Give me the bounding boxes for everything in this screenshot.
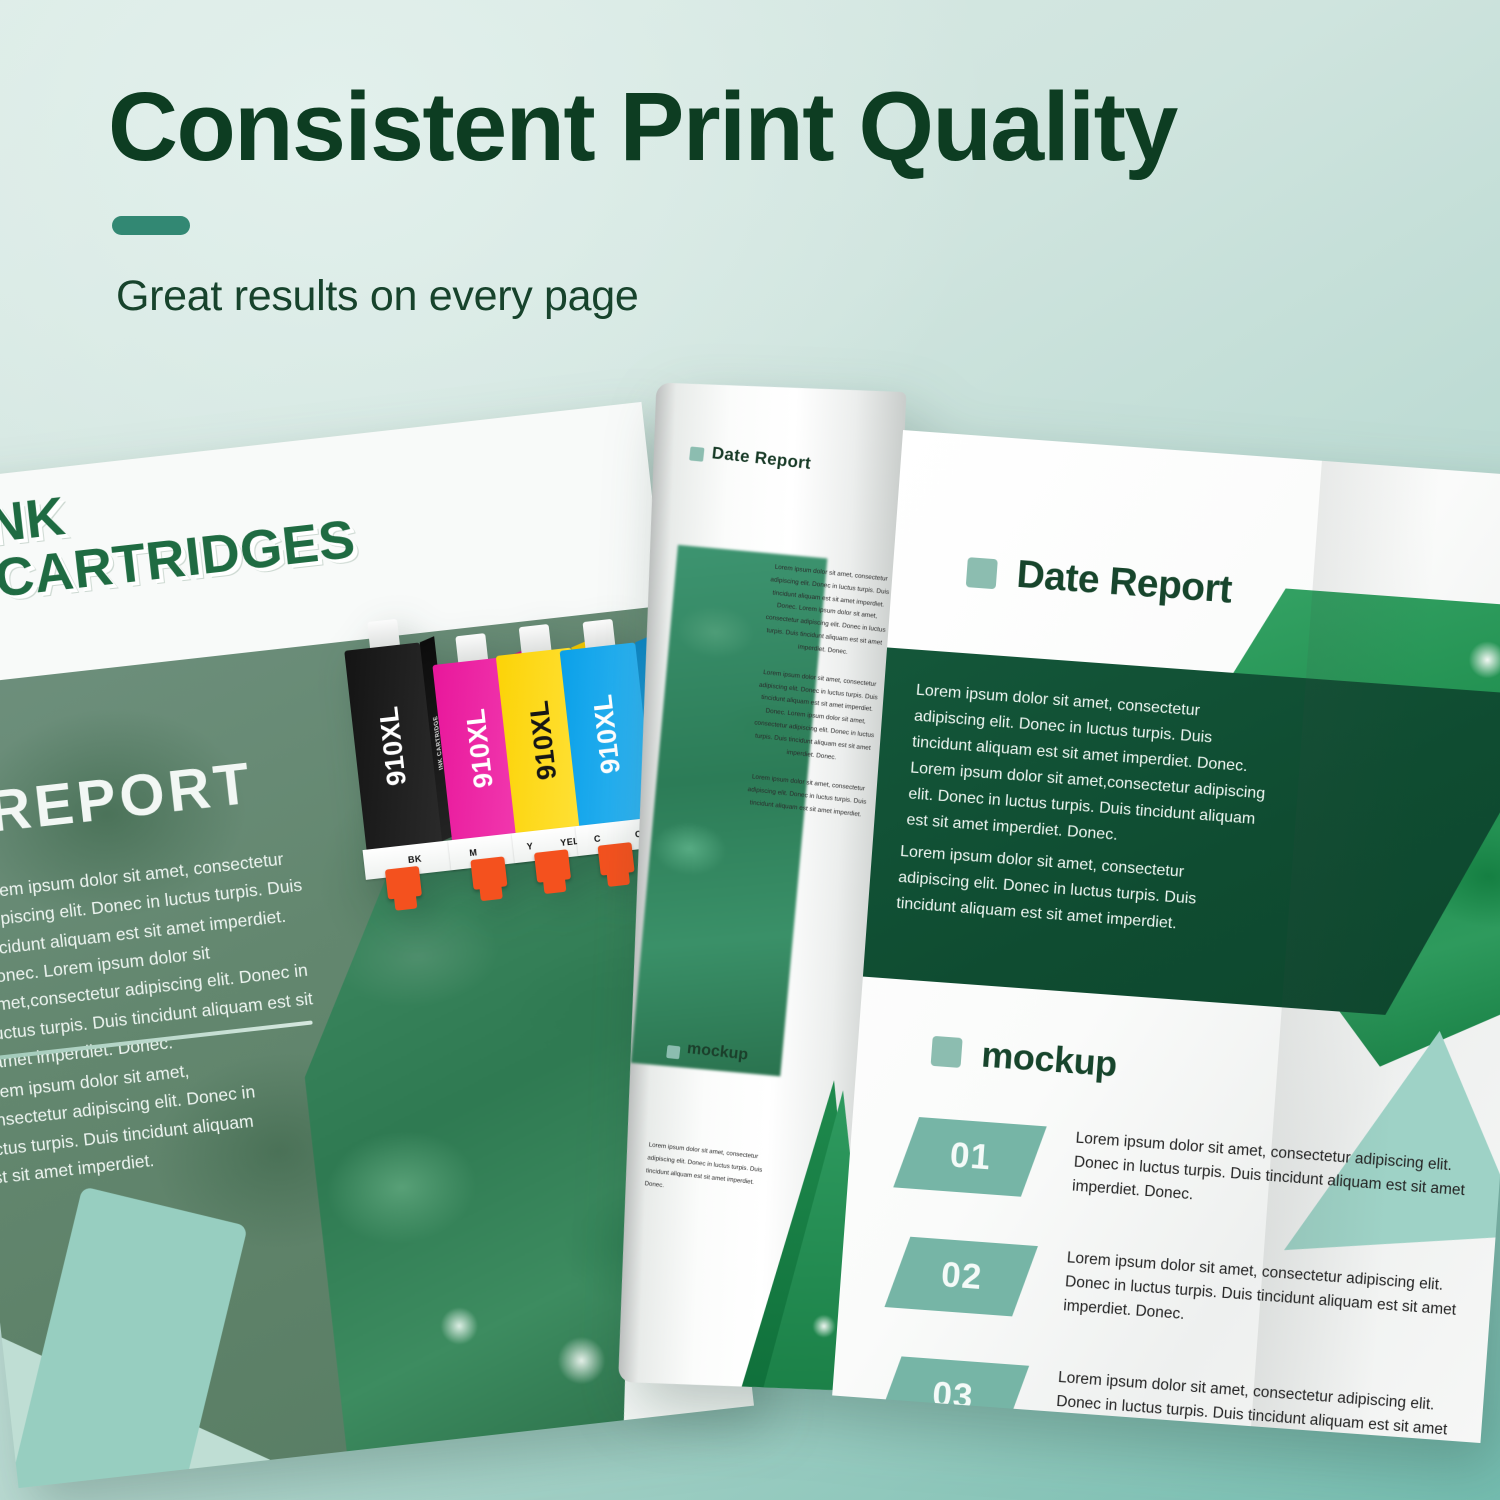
right-brochure-main-page: Date Report Lorem ipsum dolor sit amet, … [832, 430, 1500, 1443]
product-marketing-image: Consistent Print Quality Great results o… [0, 0, 1500, 1500]
curl-body-1: Lorem ipsum dolor sit amet, consectetur … [761, 561, 892, 663]
cartridge-clip-yellow [534, 849, 571, 883]
cartridge-clip-cyan [598, 842, 635, 876]
cartridge-code-magenta: M [469, 847, 478, 858]
right-brochure: Date Report Lorem ipsum dolor sit amet, … [599, 369, 1500, 1461]
curl-body-2: Lorem ipsum dolor sit amet, consectetur … [750, 666, 881, 768]
mockup-item-badge-02: 02 [884, 1237, 1038, 1317]
square-bullet-icon-curl [689, 446, 704, 461]
cartridge-clip-black [385, 866, 422, 900]
date-report-heading: Date Report [1015, 553, 1233, 613]
cartridge-model-magenta: 910XL [460, 707, 500, 790]
left-brochure-body-1: Lorem ipsum dolor sit amet, consectetur … [0, 840, 347, 1077]
curl-mockup-body: Lorem ipsum dolor sit amet, consectetur … [644, 1138, 777, 1204]
square-bullet-icon-mockup [931, 1036, 963, 1068]
cartridge-model-cyan: 910XL [587, 693, 627, 776]
cartridge-code-cyan: C [593, 833, 601, 844]
mockup-item-badge-01: 01 [893, 1117, 1047, 1197]
page-title: Consistent Print Quality [108, 78, 1438, 177]
cartridge-model-black: 910XL [373, 705, 413, 788]
mockup-item-badge-03: 03 [876, 1356, 1030, 1436]
mockup-item-number-03: 03 [931, 1375, 975, 1418]
page-subtitle: Great results on every page [116, 272, 639, 321]
square-bullet-icon-date-report [966, 557, 998, 589]
cartridge-clip-magenta [470, 856, 507, 890]
header: Consistent Print Quality [108, 78, 1438, 177]
cartridge-model-yellow: 910XL [524, 699, 564, 782]
panel-body-2: Lorem ipsum dolor sit amet, consectetur … [895, 839, 1200, 938]
dark-green-text-panel: Lorem ipsum dolor sit amet, consectetur … [833, 645, 1500, 1026]
curl-body-3: Lorem ipsum dolor sit amet, consectetur … [744, 771, 869, 822]
square-bullet-icon-curl-mockup [666, 1045, 680, 1059]
mockup-item-number-02: 02 [939, 1255, 983, 1298]
panel-body-1: Lorem ipsum dolor sit amet, consectetur … [906, 678, 1276, 859]
mockup-heading: mockup [980, 1034, 1118, 1086]
curl-heading: Date Report [711, 443, 812, 474]
mockup-item-number-01: 01 [948, 1135, 992, 1178]
cartridge-code-yellow: Y [526, 841, 533, 852]
cartridge-code-black: BK [407, 854, 422, 865]
accent-bar [112, 216, 190, 235]
